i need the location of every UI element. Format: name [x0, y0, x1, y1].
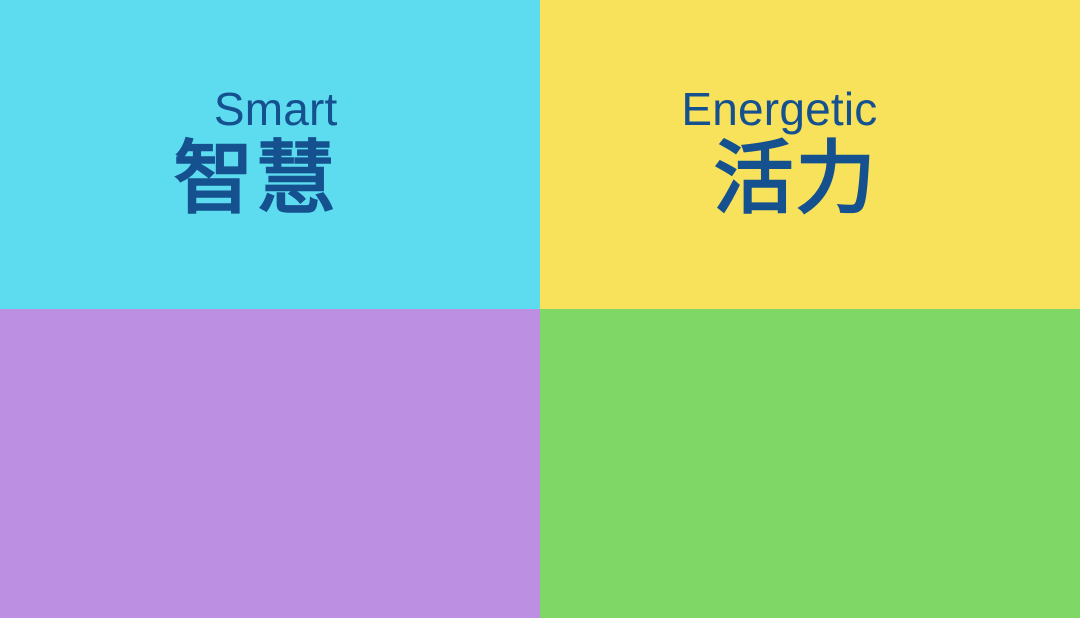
chinese-label-energetic: 活力	[714, 136, 878, 222]
text-stack-smart: Smart 智慧	[0, 86, 338, 222]
english-label-energetic: Energetic	[681, 86, 877, 132]
quadrant-energetic[interactable]: Energetic 活力	[540, 0, 1080, 309]
brand-values-grid: Smart 智慧 Energetic 活力 Innovative 創新 Sust…	[0, 0, 1080, 618]
chinese-label-smart: 智慧	[174, 136, 338, 222]
quadrant-sustainable[interactable]: Sustainable 永續	[540, 309, 1080, 618]
text-stack-energetic: Energetic 活力	[540, 86, 878, 222]
quadrant-innovative[interactable]: Innovative 創新	[0, 309, 540, 618]
english-label-smart: Smart	[214, 86, 338, 132]
quadrant-smart[interactable]: Smart 智慧	[0, 0, 540, 309]
